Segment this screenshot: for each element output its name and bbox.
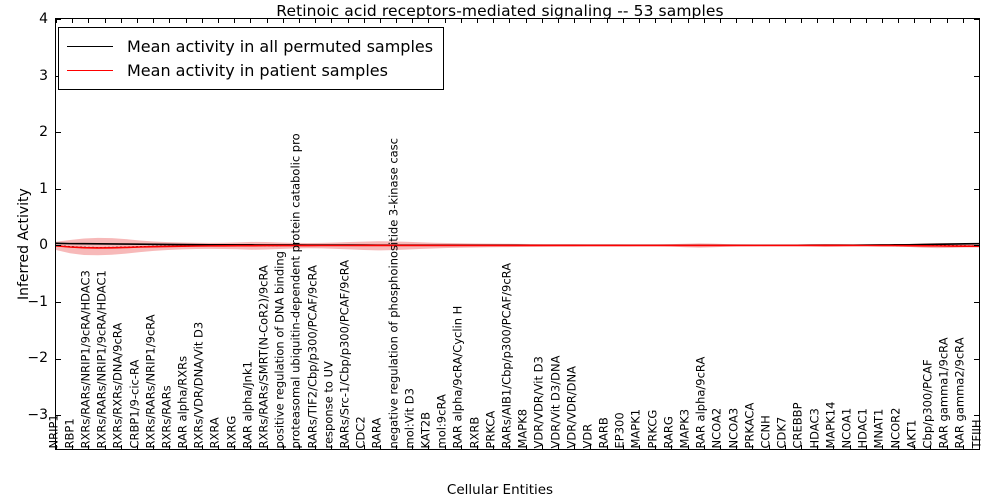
x-tick-mark (396, 19, 397, 23)
y-tick-mark (974, 132, 979, 133)
x-tick-mark (315, 19, 316, 23)
x-tick-mark (526, 445, 527, 449)
y-tick-label: 0 (0, 237, 48, 253)
x-tick-mark (428, 445, 429, 449)
x-tick-mark (380, 445, 381, 449)
x-tick-mark (56, 445, 57, 449)
x-tick-mark (137, 19, 138, 23)
x-tick-mark (947, 19, 948, 23)
x-tick-mark (267, 19, 268, 23)
x-tick-mark (720, 445, 721, 449)
x-tick-mark (623, 19, 624, 23)
x-tick-mark (509, 445, 510, 449)
x-tick-mark (574, 19, 575, 23)
x-tick-mark (736, 445, 737, 449)
x-tick-mark (218, 19, 219, 23)
x-tick-mark (250, 445, 251, 449)
chart-legend: Mean activity in all permuted samples Me… (58, 27, 444, 90)
x-tick-mark (364, 445, 365, 449)
x-tick-mark (704, 19, 705, 23)
x-tick-mark (882, 445, 883, 449)
x-tick-mark (218, 445, 219, 449)
x-tick-mark (509, 19, 510, 23)
x-tick-mark (688, 19, 689, 23)
x-tick-mark (121, 445, 122, 449)
x-tick-mark (914, 445, 915, 449)
x-tick-mark (267, 445, 268, 449)
x-tick-mark (720, 19, 721, 23)
x-tick-mark (234, 19, 235, 23)
x-axis-label: Cellular Entities (0, 482, 1000, 498)
x-tick-mark (817, 19, 818, 23)
x-tick-mark (283, 445, 284, 449)
x-tick-mark (169, 19, 170, 23)
x-tick-mark (930, 19, 931, 23)
x-tick-mark (526, 19, 527, 23)
x-tick-mark (833, 19, 834, 23)
x-tick-mark (785, 19, 786, 23)
x-tick-mark (655, 19, 656, 23)
x-tick-mark (477, 445, 478, 449)
y-tick-label: 3 (0, 68, 48, 84)
y-tick-mark (974, 359, 979, 360)
x-tick-mark (72, 445, 73, 449)
x-tick-mark (558, 445, 559, 449)
x-tick-mark (153, 445, 154, 449)
x-tick-mark (169, 445, 170, 449)
y-tick-mark (974, 245, 979, 246)
x-tick-mark (137, 445, 138, 449)
x-tick-mark (364, 19, 365, 23)
y-tick-mark (974, 415, 979, 416)
x-tick-mark (914, 19, 915, 23)
y-tick-mark (974, 76, 979, 77)
x-tick-mark (801, 445, 802, 449)
x-tick-mark (542, 19, 543, 23)
legend-label-permuted: Mean activity in all permuted samples (127, 37, 433, 56)
legend-swatch-permuted (67, 46, 113, 47)
x-tick-mark (752, 445, 753, 449)
y-tick-label: 1 (0, 181, 48, 197)
x-tick-mark (671, 445, 672, 449)
y-tick-mark (56, 132, 61, 133)
x-tick-mark (671, 19, 672, 23)
x-tick-mark (817, 445, 818, 449)
x-tick-mark (186, 445, 187, 449)
x-tick-mark (590, 19, 591, 23)
x-tick-mark (704, 445, 705, 449)
x-tick-mark (331, 19, 332, 23)
y-tick-label: −1 (0, 294, 48, 310)
x-tick-mark (234, 445, 235, 449)
x-tick-mark (850, 445, 851, 449)
x-tick-mark (752, 19, 753, 23)
x-tick-mark (461, 445, 462, 449)
x-tick-mark (88, 19, 89, 23)
y-tick-mark (56, 359, 61, 360)
chart-figure: Retinoic acid receptors-mediated signali… (0, 0, 1000, 500)
x-tick-mark (607, 445, 608, 449)
x-tick-mark (121, 19, 122, 23)
x-tick-mark (542, 445, 543, 449)
y-tick-label: −3 (0, 407, 48, 423)
x-tick-mark (979, 445, 980, 449)
y-tick-label: −2 (0, 350, 48, 366)
x-tick-mark (412, 19, 413, 23)
x-tick-mark (250, 19, 251, 23)
y-tick-mark (56, 19, 61, 20)
x-tick-mark (623, 445, 624, 449)
x-tick-mark (396, 445, 397, 449)
x-tick-mark (801, 19, 802, 23)
legend-item-permuted: Mean activity in all permuted samples (67, 34, 433, 58)
x-tick-mark (833, 445, 834, 449)
x-tick-mark (639, 445, 640, 449)
x-tick-mark (590, 445, 591, 449)
x-tick-mark (769, 445, 770, 449)
y-tick-mark (56, 415, 61, 416)
x-tick-mark (688, 445, 689, 449)
x-tick-mark (331, 445, 332, 449)
x-tick-mark (850, 19, 851, 23)
x-tick-mark (105, 19, 106, 23)
x-tick-mark (428, 19, 429, 23)
x-tick-mark (153, 19, 154, 23)
x-tick-mark (348, 445, 349, 449)
x-tick-mark (785, 445, 786, 449)
x-tick-mark (493, 19, 494, 23)
y-tick-label: 2 (0, 124, 48, 140)
x-tick-mark (930, 445, 931, 449)
x-tick-mark (315, 445, 316, 449)
y-tick-mark (974, 19, 979, 20)
x-tick-mark (202, 445, 203, 449)
x-tick-mark (947, 445, 948, 449)
y-tick-mark (974, 189, 979, 190)
legend-swatch-patient (67, 70, 113, 71)
y-tick-mark (56, 189, 61, 190)
x-tick-mark (898, 445, 899, 449)
x-tick-mark (477, 19, 478, 23)
x-tick-mark (299, 19, 300, 23)
x-tick-mark (88, 445, 89, 449)
x-tick-mark (979, 19, 980, 23)
x-tick-mark (736, 19, 737, 23)
y-tick-mark (56, 245, 61, 246)
legend-label-patient: Mean activity in patient samples (127, 61, 388, 80)
y-tick-mark (974, 302, 979, 303)
x-tick-mark (380, 19, 381, 23)
x-tick-mark (186, 19, 187, 23)
x-tick-mark (202, 19, 203, 23)
x-tick-mark (493, 445, 494, 449)
x-tick-mark (963, 445, 964, 449)
x-tick-mark (445, 19, 446, 23)
x-tick-mark (72, 19, 73, 23)
legend-item-patient: Mean activity in patient samples (67, 58, 433, 82)
x-tick-mark (574, 445, 575, 449)
y-axis-tick-labels: 43210−1−2−3 (0, 0, 55, 500)
x-tick-mark (558, 19, 559, 23)
x-tick-mark (445, 445, 446, 449)
x-tick-mark (866, 445, 867, 449)
x-tick-mark (607, 19, 608, 23)
x-tick-mark (461, 19, 462, 23)
x-tick-mark (866, 19, 867, 23)
y-tick-label: 4 (0, 11, 48, 27)
x-tick-mark (283, 19, 284, 23)
x-tick-mark (639, 19, 640, 23)
x-tick-mark (655, 445, 656, 449)
x-tick-mark (882, 19, 883, 23)
y-tick-mark (56, 302, 61, 303)
x-tick-mark (105, 445, 106, 449)
x-tick-mark (299, 445, 300, 449)
x-tick-mark (898, 19, 899, 23)
x-tick-mark (963, 19, 964, 23)
x-tick-mark (769, 19, 770, 23)
x-tick-mark (412, 445, 413, 449)
x-tick-mark (348, 19, 349, 23)
